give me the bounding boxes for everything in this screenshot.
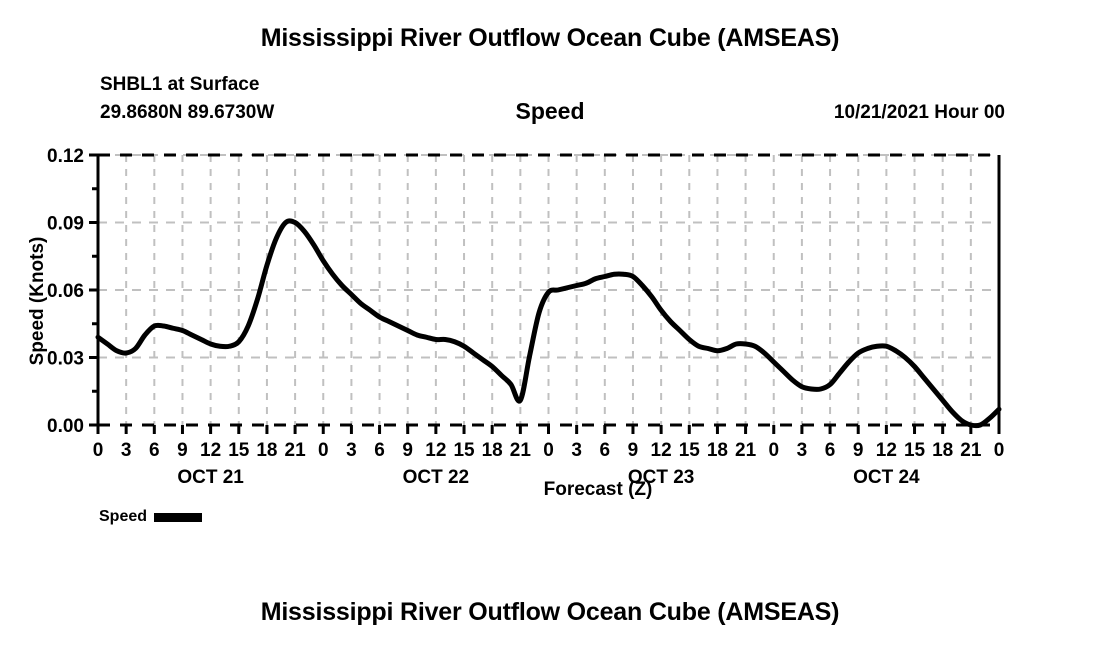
svg-text:18: 18 <box>482 440 503 461</box>
svg-text:9: 9 <box>628 440 639 461</box>
chart-page: Mississippi River Outflow Ocean Cube (AM… <box>0 0 1100 650</box>
svg-text:12: 12 <box>200 440 221 461</box>
speed-timeseries-chart: 0.000.030.060.090.12 0369121518210369121… <box>0 0 1100 650</box>
svg-text:15: 15 <box>453 440 475 461</box>
legend-swatch-speed <box>154 513 202 522</box>
y-axis-label: Speed (Knots) <box>27 201 49 401</box>
legend: Speed <box>99 508 202 526</box>
svg-text:21: 21 <box>285 440 307 461</box>
footer-title: Mississippi River Outflow Ocean Cube (AM… <box>0 598 1100 627</box>
svg-text:15: 15 <box>679 440 701 461</box>
svg-text:18: 18 <box>256 440 277 461</box>
plot-area: 0.000.030.060.090.12 0369121518210369121… <box>0 0 1100 650</box>
svg-text:0.00: 0.00 <box>47 416 84 437</box>
svg-text:21: 21 <box>735 440 757 461</box>
svg-text:21: 21 <box>510 440 532 461</box>
svg-text:0: 0 <box>994 440 1005 461</box>
svg-text:6: 6 <box>600 440 611 461</box>
svg-text:0: 0 <box>768 440 779 461</box>
svg-text:6: 6 <box>825 440 836 461</box>
svg-text:3: 3 <box>797 440 808 461</box>
svg-text:12: 12 <box>425 440 446 461</box>
svg-text:12: 12 <box>876 440 897 461</box>
svg-text:3: 3 <box>121 440 132 461</box>
x-tick-labels: 0369121518210369121518210369121518210369… <box>93 440 1005 461</box>
svg-text:15: 15 <box>228 440 250 461</box>
svg-text:3: 3 <box>346 440 357 461</box>
svg-text:0.09: 0.09 <box>47 214 84 235</box>
y-tick-labels: 0.000.030.060.090.12 <box>47 146 84 437</box>
svg-text:0.03: 0.03 <box>47 349 84 370</box>
svg-text:9: 9 <box>177 440 188 461</box>
svg-text:21: 21 <box>960 440 982 461</box>
svg-text:0: 0 <box>318 440 329 461</box>
svg-text:9: 9 <box>853 440 864 461</box>
svg-text:0: 0 <box>543 440 554 461</box>
legend-label-speed: Speed <box>99 508 147 526</box>
svg-text:0.12: 0.12 <box>47 146 84 167</box>
svg-text:0.06: 0.06 <box>47 281 84 302</box>
svg-text:6: 6 <box>149 440 160 461</box>
svg-text:18: 18 <box>707 440 728 461</box>
x-axis-label: Forecast (Z) <box>0 479 1100 501</box>
svg-text:18: 18 <box>932 440 953 461</box>
svg-text:6: 6 <box>374 440 385 461</box>
svg-text:0: 0 <box>93 440 104 461</box>
svg-text:15: 15 <box>904 440 926 461</box>
svg-text:12: 12 <box>651 440 672 461</box>
svg-text:9: 9 <box>402 440 413 461</box>
svg-text:3: 3 <box>571 440 582 461</box>
